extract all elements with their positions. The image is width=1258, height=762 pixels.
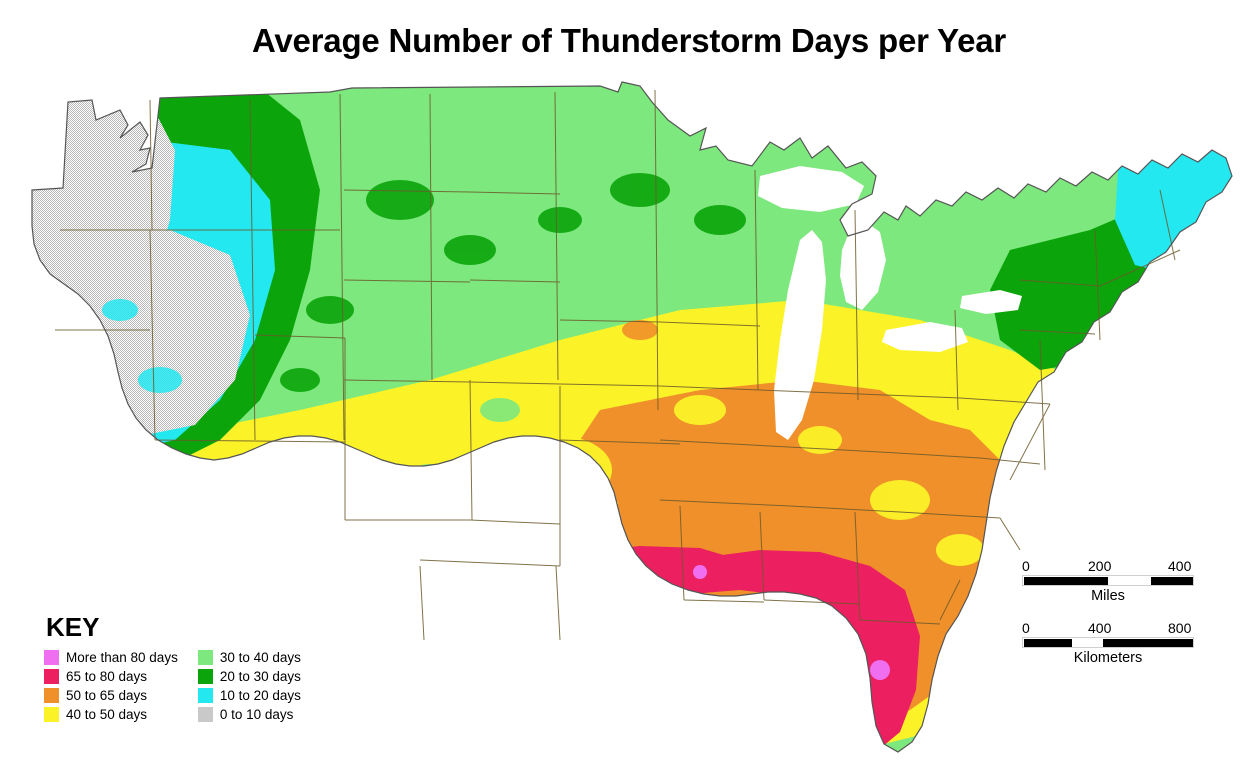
- legend-item: 40 to 50 days: [44, 705, 178, 723]
- legend-label: 20 to 30 days: [220, 669, 301, 684]
- legend-heading: KEY: [46, 614, 354, 640]
- scale-tick-row: 0 400 800: [1022, 620, 1194, 637]
- legend-label: 65 to 80 days: [66, 669, 147, 684]
- legend-swatch-0-10: [198, 707, 213, 722]
- legend-column-right: 30 to 40 days 20 to 30 days 10 to 20 day…: [198, 648, 301, 723]
- scale-segment: [1024, 639, 1072, 647]
- page-title: Average Number of Thunderstorm Days per …: [0, 22, 1258, 60]
- legend-label: 50 to 65 days: [66, 688, 147, 703]
- legend-swatch-10-20: [198, 688, 213, 703]
- legend-item: More than 80 days: [44, 648, 178, 666]
- scale-tick-label: 200: [1088, 558, 1111, 574]
- legend-swatch-65-80: [44, 669, 59, 684]
- scale-tick-label: 0: [1022, 620, 1030, 636]
- legend-item: 30 to 40 days: [198, 648, 301, 666]
- legend-column-left: More than 80 days 65 to 80 days 50 to 65…: [44, 648, 178, 723]
- scale-bar-kilometers: 0 400 800 Kilometers: [1022, 620, 1252, 666]
- legend-swatch-over-80: [44, 650, 59, 665]
- scale-tick-label: 400: [1168, 558, 1191, 574]
- legend-item: 10 to 20 days: [198, 686, 301, 704]
- scale-rule: [1022, 575, 1194, 586]
- legend-item: 20 to 30 days: [198, 667, 301, 685]
- legend-label: More than 80 days: [66, 650, 178, 665]
- scale-segment: [1024, 577, 1108, 585]
- legend-swatch-40-50: [44, 707, 59, 722]
- band-over-80: [693, 565, 707, 579]
- band-over-80: [870, 660, 890, 680]
- scale-bars: 0 200 400 Miles 0 400 800 Kilometers: [1022, 558, 1252, 670]
- legend-item: 0 to 10 days: [198, 705, 301, 723]
- legend-label: 10 to 20 days: [220, 688, 301, 703]
- legend-swatch-50-65: [44, 688, 59, 703]
- scale-tick-label: 800: [1168, 620, 1191, 636]
- legend-item: 50 to 65 days: [44, 686, 178, 704]
- legend-item: 65 to 80 days: [44, 667, 178, 685]
- scale-bar-miles: 0 200 400 Miles: [1022, 558, 1252, 604]
- scale-caption: Kilometers: [1022, 650, 1194, 666]
- scale-segment: [1151, 577, 1193, 585]
- scale-tick-row: 0 200 400: [1022, 558, 1194, 575]
- legend-label: 40 to 50 days: [66, 707, 147, 722]
- legend-swatch-20-30: [198, 669, 213, 684]
- scale-segment: [1103, 639, 1193, 647]
- legend-label: 0 to 10 days: [220, 707, 294, 722]
- scale-tick-label: 0: [1022, 558, 1030, 574]
- scale-rule: [1022, 637, 1194, 648]
- scale-tick-label: 400: [1088, 620, 1111, 636]
- legend-swatch-30-40: [198, 650, 213, 665]
- scale-caption: Miles: [1022, 588, 1194, 604]
- legend-label: 30 to 40 days: [220, 650, 301, 665]
- legend: KEY More than 80 days 65 to 80 days 50 t…: [44, 614, 354, 732]
